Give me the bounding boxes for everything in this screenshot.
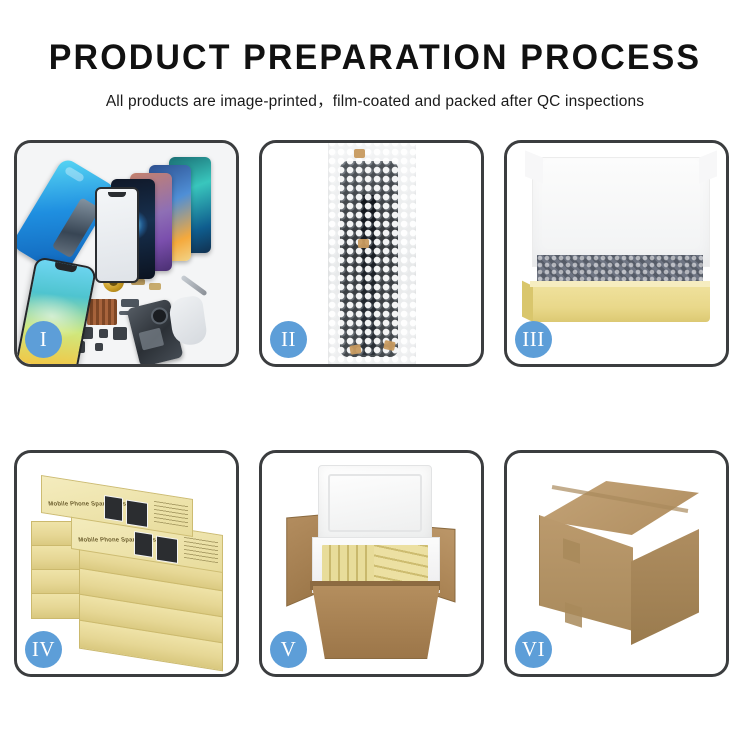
part-speaker [113,327,127,340]
bubble-texture [328,143,416,364]
process-step-panel-4: Mobile Phone Spare Parts Mobile Phone Sp… [14,450,239,677]
step-badge-3: III [515,321,552,358]
kraft-box-tray [530,286,710,322]
part-screw-cap [95,343,103,351]
screen-glass-protector [95,187,139,283]
part-button [99,329,108,338]
box-thumbnail [156,535,178,563]
carton-body [312,585,440,659]
box-thumbnail [104,495,123,522]
carton-tape-lower [565,602,582,628]
page-subtitle: All products are image-printed，film-coat… [0,89,750,111]
bubble-wrap-bag [328,143,416,364]
box-spec-lines [154,500,188,527]
tape-piece-top [354,149,365,158]
step-badge-2: II [270,321,307,358]
box-spec-lines [184,536,218,563]
step-badge-4: IV [25,631,62,668]
carton-side-face [631,529,699,645]
page-title: PRODUCT PREPARATION PROCESS [11,40,739,75]
process-step-panel-2: II [259,140,484,367]
process-step-panel-1: I [14,140,239,367]
phone-fan-group [101,157,231,272]
step-badge-6: VI [515,631,552,668]
step-badge-5: V [270,631,307,668]
foam-lid [318,465,432,543]
repair-tweezer-tool [180,275,207,297]
step-badge-1: I [25,321,62,358]
box-white-lid [532,157,710,267]
process-step-panel-5: V [259,450,484,677]
tape-piece-middle [358,239,369,248]
part-bracket [149,283,161,290]
process-step-panel-3: III [504,140,729,367]
retail-box-stack: Mobile Phone Spare Parts Mobile Phone Sp… [31,475,227,663]
page-header: PRODUCT PREPARATION PROCESS All products… [0,0,750,111]
box-thumbnail [126,499,148,527]
tape-piece-bottom-left [349,344,361,355]
circuit-board-part [87,299,117,325]
packed-yellow-boxes-angled [374,545,428,585]
process-step-panel-6: VI [504,450,729,677]
process-step-grid: I II III [14,140,736,677]
box-thumbnail [134,531,153,558]
